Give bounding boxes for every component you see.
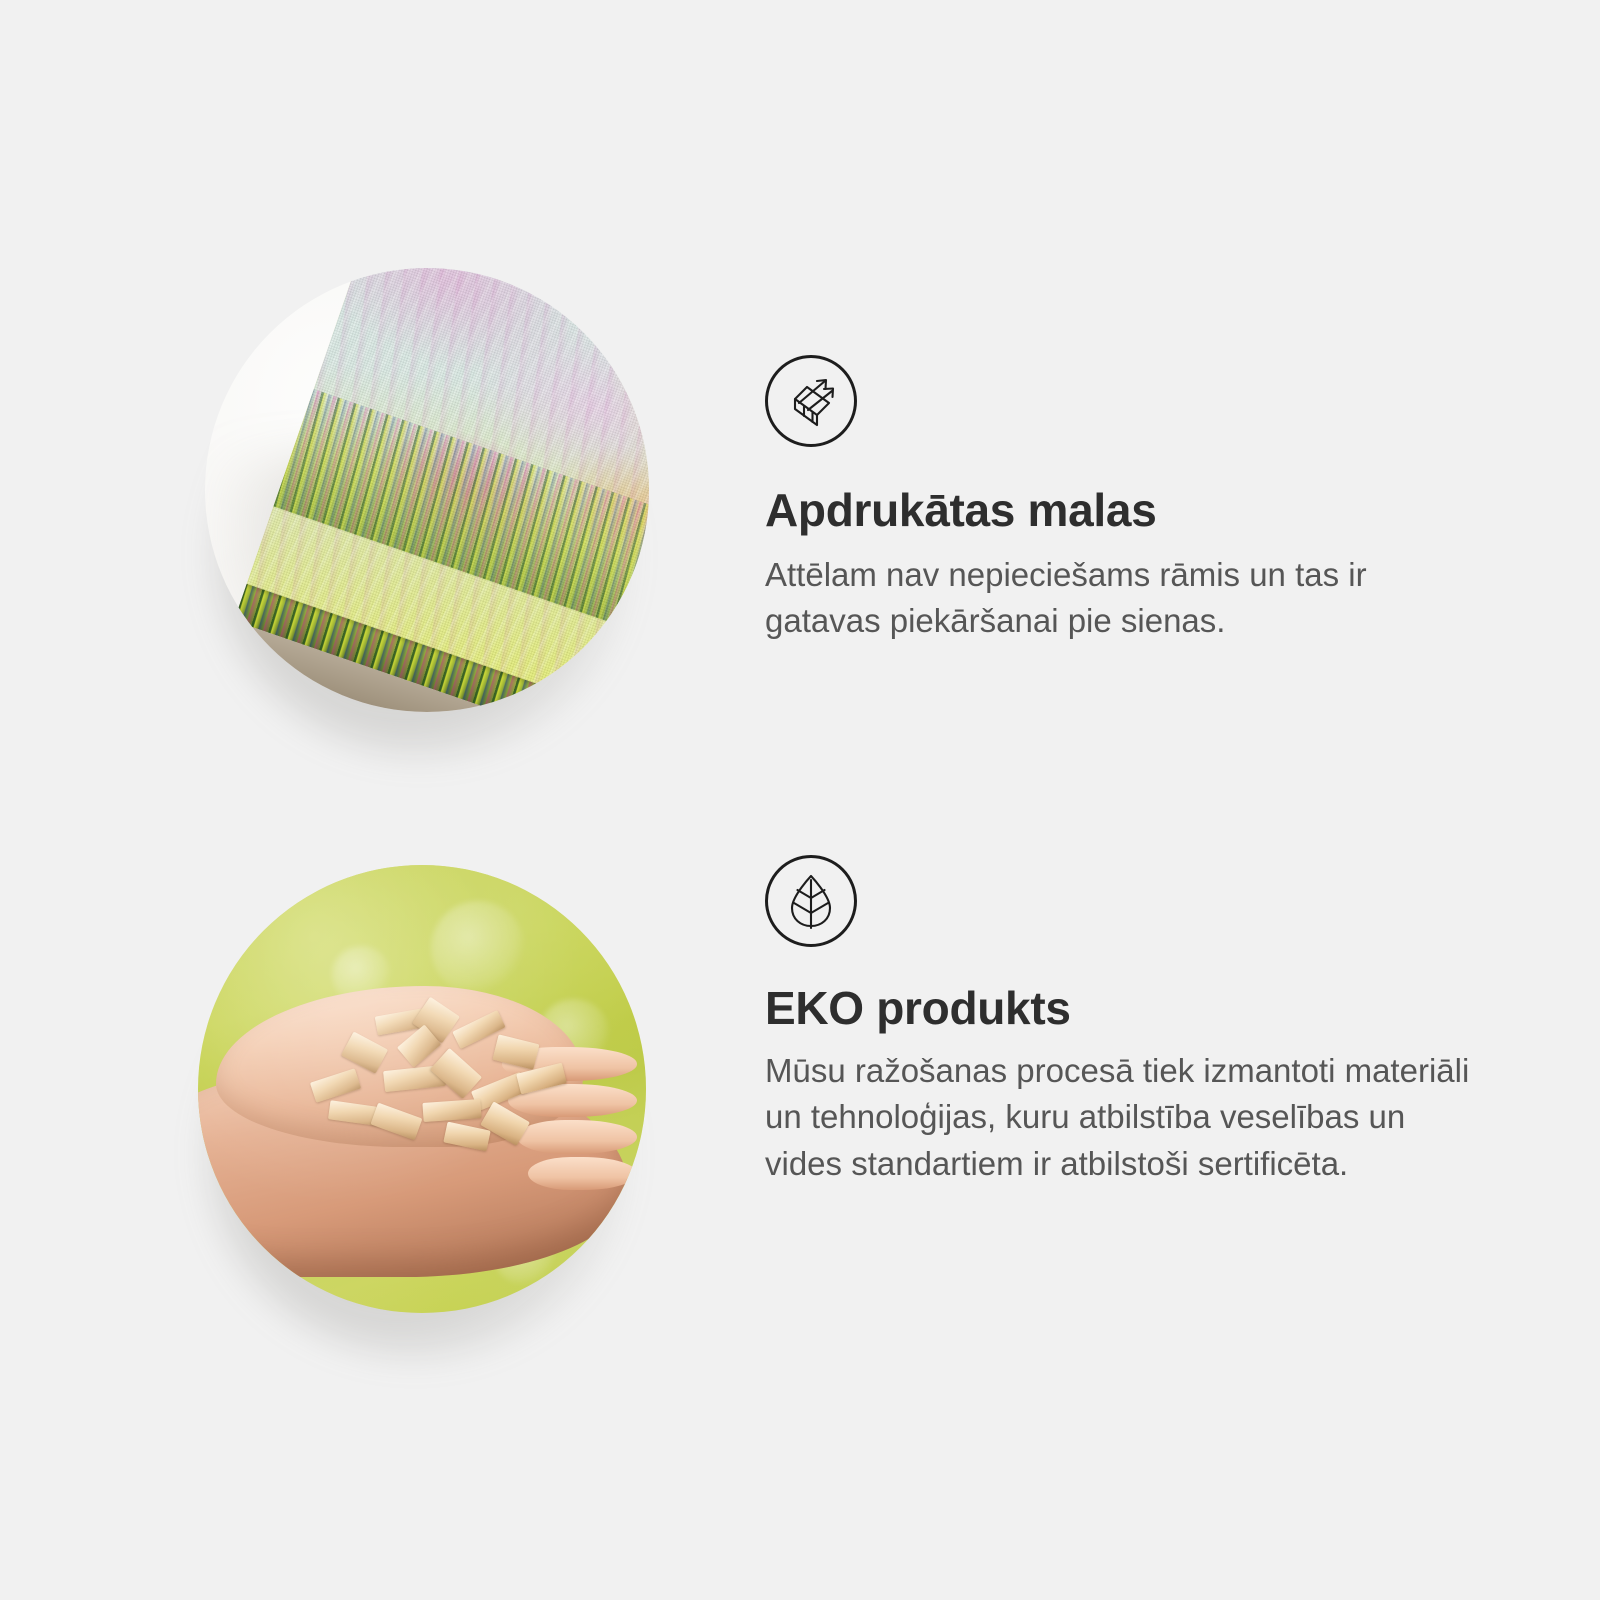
bokeh-circle xyxy=(431,901,525,995)
hands-holding-wood-chips-photo xyxy=(198,865,646,1313)
feature-text-column: EKO produkts Mūsu ražošanas procesā tiek… xyxy=(765,855,1505,1188)
wood-chips-pile xyxy=(301,1004,579,1165)
feature-eco-product: EKO produkts Mūsu ražošanas procesā tiek… xyxy=(0,845,1600,1335)
canvas-print-corner-photo xyxy=(205,268,649,712)
leaf-glyph xyxy=(784,872,838,930)
feature-title: EKO produkts xyxy=(765,983,1505,1034)
printed-edges-glyph xyxy=(783,373,839,429)
feature-text-column: Apdrukātas malas Attēlam nav nepieciešam… xyxy=(765,355,1505,645)
feature-description: Mūsu ražošanas procesā tiek izmantoti ma… xyxy=(765,1048,1480,1189)
photo-disc xyxy=(205,268,649,712)
feature-description: Attēlam nav nepieciešams rāmis un tas ir… xyxy=(765,552,1480,646)
product-features-page: Apdrukātas malas Attēlam nav nepieciešam… xyxy=(0,0,1600,1600)
feature-title: Apdrukātas malas xyxy=(765,485,1505,536)
photo-disc xyxy=(198,865,646,1313)
printed-edges-icon xyxy=(765,355,857,447)
feature-printed-edges: Apdrukātas malas Attēlam nav nepieciešam… xyxy=(0,250,1600,730)
leaf-icon xyxy=(765,855,857,947)
